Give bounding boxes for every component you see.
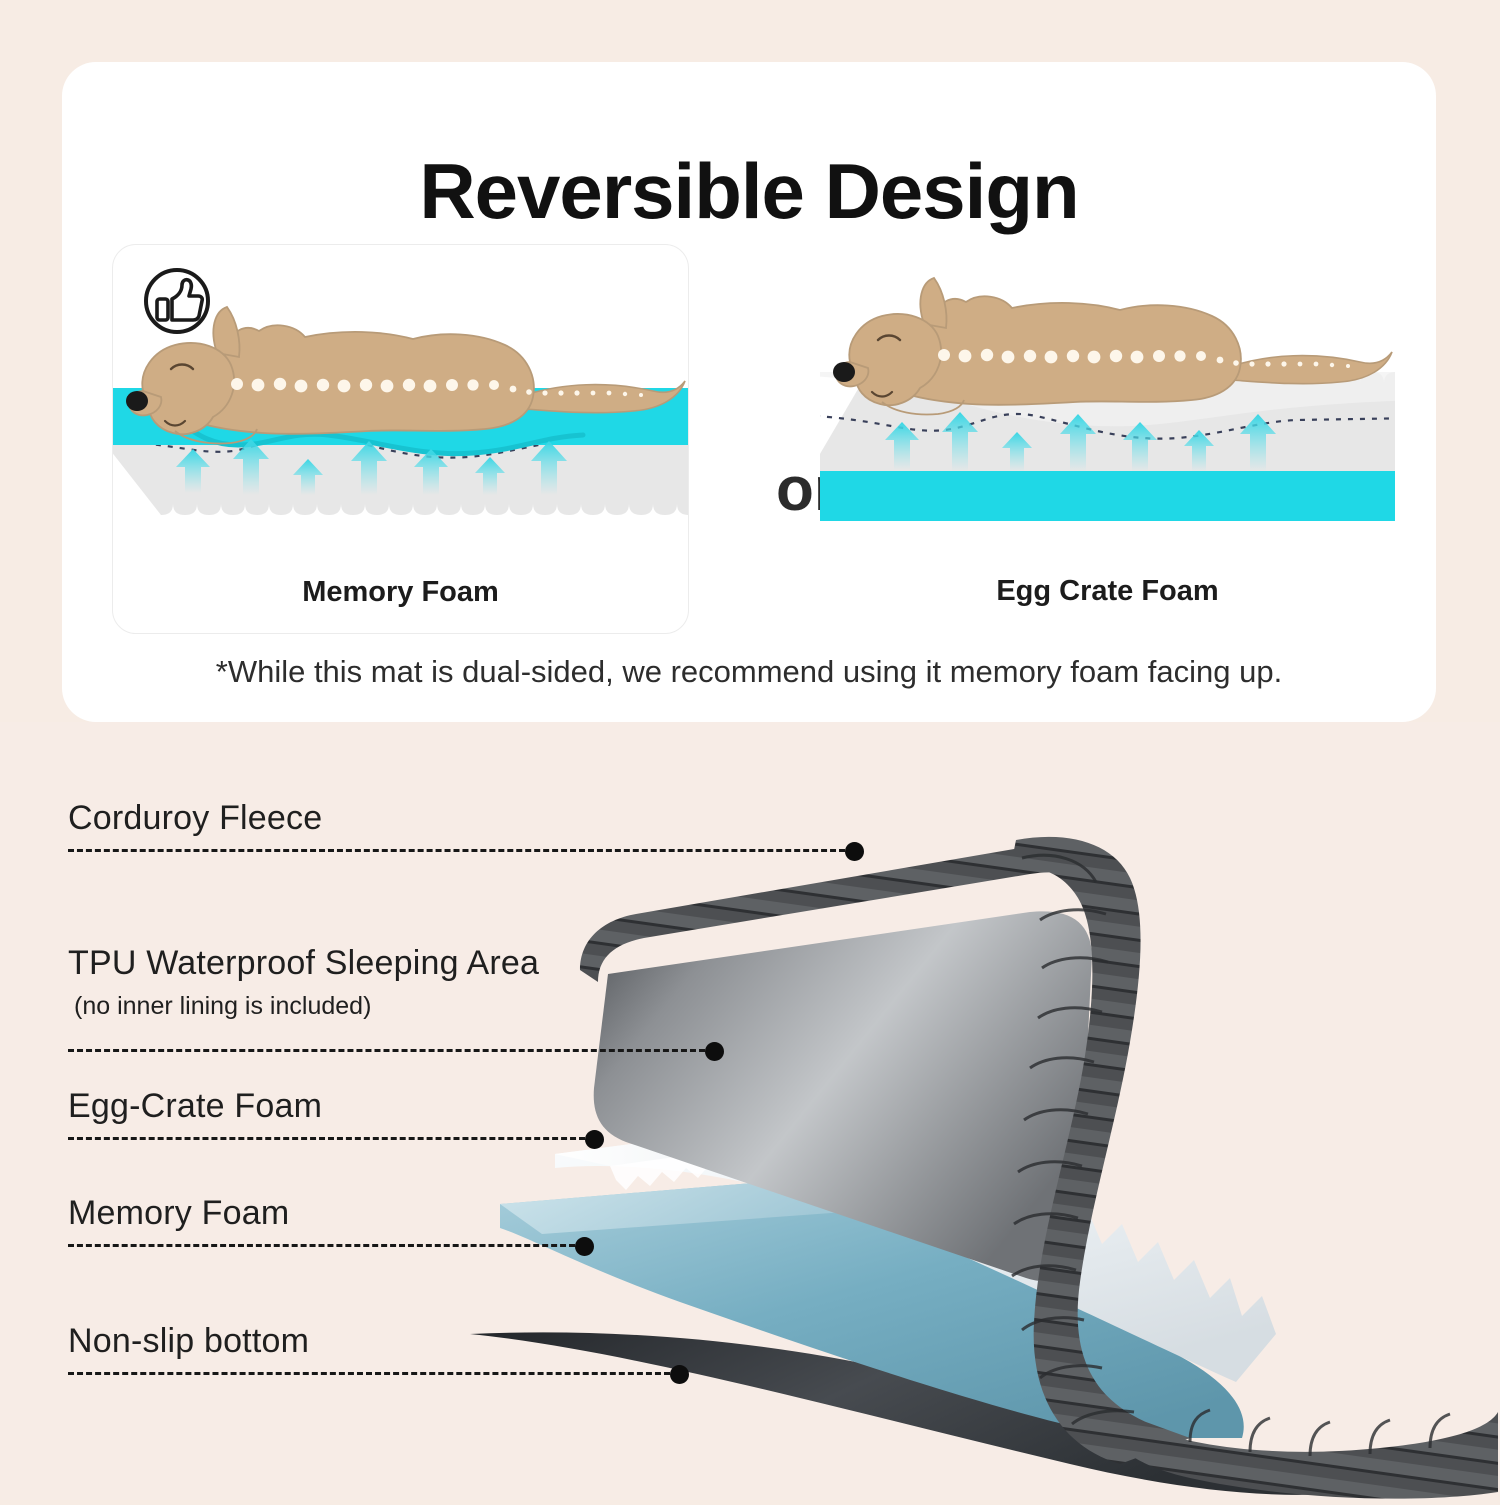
layer-label-2: Egg-Crate Foam bbox=[68, 1087, 322, 1126]
layer-label-4: Non-slip bottom bbox=[68, 1322, 309, 1361]
leader-dash-4 bbox=[68, 1372, 670, 1375]
panel-egg-crate-foam: Egg Crate Foam bbox=[820, 244, 1395, 632]
egg-crate-foam-illustration bbox=[820, 244, 1395, 564]
leader-dot-3 bbox=[575, 1237, 594, 1256]
leader-dot-0 bbox=[845, 842, 864, 861]
leader-dash-3 bbox=[68, 1244, 575, 1247]
card-footnote: *While this mat is dual-sided, we recomm… bbox=[62, 654, 1436, 690]
layer-sublabel-1: (no inner lining is included) bbox=[74, 992, 371, 1021]
leader-dash-0 bbox=[68, 849, 845, 852]
panel-caption-memory-foam: Memory Foam bbox=[113, 576, 688, 609]
layer-label-0: Corduroy Fleece bbox=[68, 799, 322, 838]
memory-foam-band bbox=[820, 471, 1395, 521]
leader-dot-1 bbox=[705, 1042, 724, 1061]
leader-dash-1 bbox=[68, 1049, 705, 1052]
leader-dot-4 bbox=[670, 1365, 689, 1384]
panel-memory-foam: Memory Foam bbox=[112, 244, 689, 634]
product-exploded-view bbox=[430, 722, 1500, 1500]
leader-dash-2 bbox=[68, 1137, 585, 1140]
page-title: Reversible Design bbox=[62, 152, 1436, 230]
leader-dot-2 bbox=[585, 1130, 604, 1149]
layer-breakdown-section: Corduroy Fleece TPU Waterproof Sleeping … bbox=[0, 722, 1500, 1500]
panel-caption-egg-crate-foam: Egg Crate Foam bbox=[820, 575, 1395, 608]
thumbs-up-icon bbox=[141, 265, 213, 337]
reversible-design-card: Reversible Design bbox=[62, 62, 1436, 722]
layer-label-3: Memory Foam bbox=[68, 1194, 289, 1233]
product-layers-graphic bbox=[430, 722, 1500, 1500]
layer-label-1: TPU Waterproof Sleeping Area bbox=[68, 944, 539, 983]
infographic-root: Reversible Design bbox=[0, 0, 1500, 1500]
